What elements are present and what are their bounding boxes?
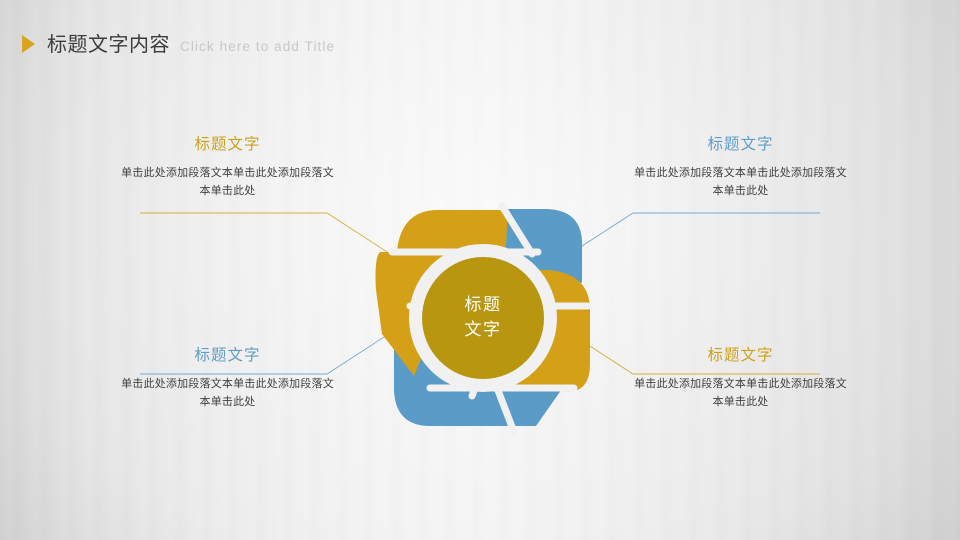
center-circle[interactable] — [422, 257, 544, 379]
block-heading[interactable]: 标题文字 — [633, 347, 848, 366]
block-heading[interactable]: 标题文字 — [633, 136, 848, 155]
content-block-bottom-right[interactable]: 标题文字 单击此处添加段落文本单击此处添加段落文本单击此处 — [633, 347, 848, 411]
block-heading[interactable]: 标题文字 — [120, 347, 335, 366]
content-block-bottom-left[interactable]: 标题文字 单击此处添加段落文本单击此处添加段落文本单击此处 — [120, 347, 335, 411]
block-heading[interactable]: 标题文字 — [120, 136, 335, 155]
slide-canvas: 标题文字内容 Click here to add Title 标题文字 单击此处… — [0, 0, 960, 540]
block-body[interactable]: 单击此处添加段落文本单击此处添加段落文本单击此处 — [120, 164, 335, 200]
content-block-top-right[interactable]: 标题文字 单击此处添加段落文本单击此处添加段落文本单击此处 — [633, 136, 848, 200]
page-title[interactable]: 标题文字内容 — [47, 28, 170, 57]
block-body[interactable]: 单击此处添加段落文本单击此处添加段落文本单击此处 — [633, 164, 848, 200]
hexagon-diagram: 标题 文字 — [352, 186, 614, 450]
triangle-right-icon — [22, 35, 35, 53]
block-body[interactable]: 单击此处添加段落文本单击此处添加段落文本单击此处 — [633, 375, 848, 411]
content-block-top-left[interactable]: 标题文字 单击此处添加段落文本单击此处添加段落文本单击此处 — [120, 136, 335, 200]
block-body[interactable]: 单击此处添加段落文本单击此处添加段落文本单击此处 — [120, 375, 335, 411]
title-placeholder[interactable]: Click here to add Title — [180, 39, 335, 54]
slide-header: 标题文字内容 Click here to add Title — [22, 28, 335, 57]
